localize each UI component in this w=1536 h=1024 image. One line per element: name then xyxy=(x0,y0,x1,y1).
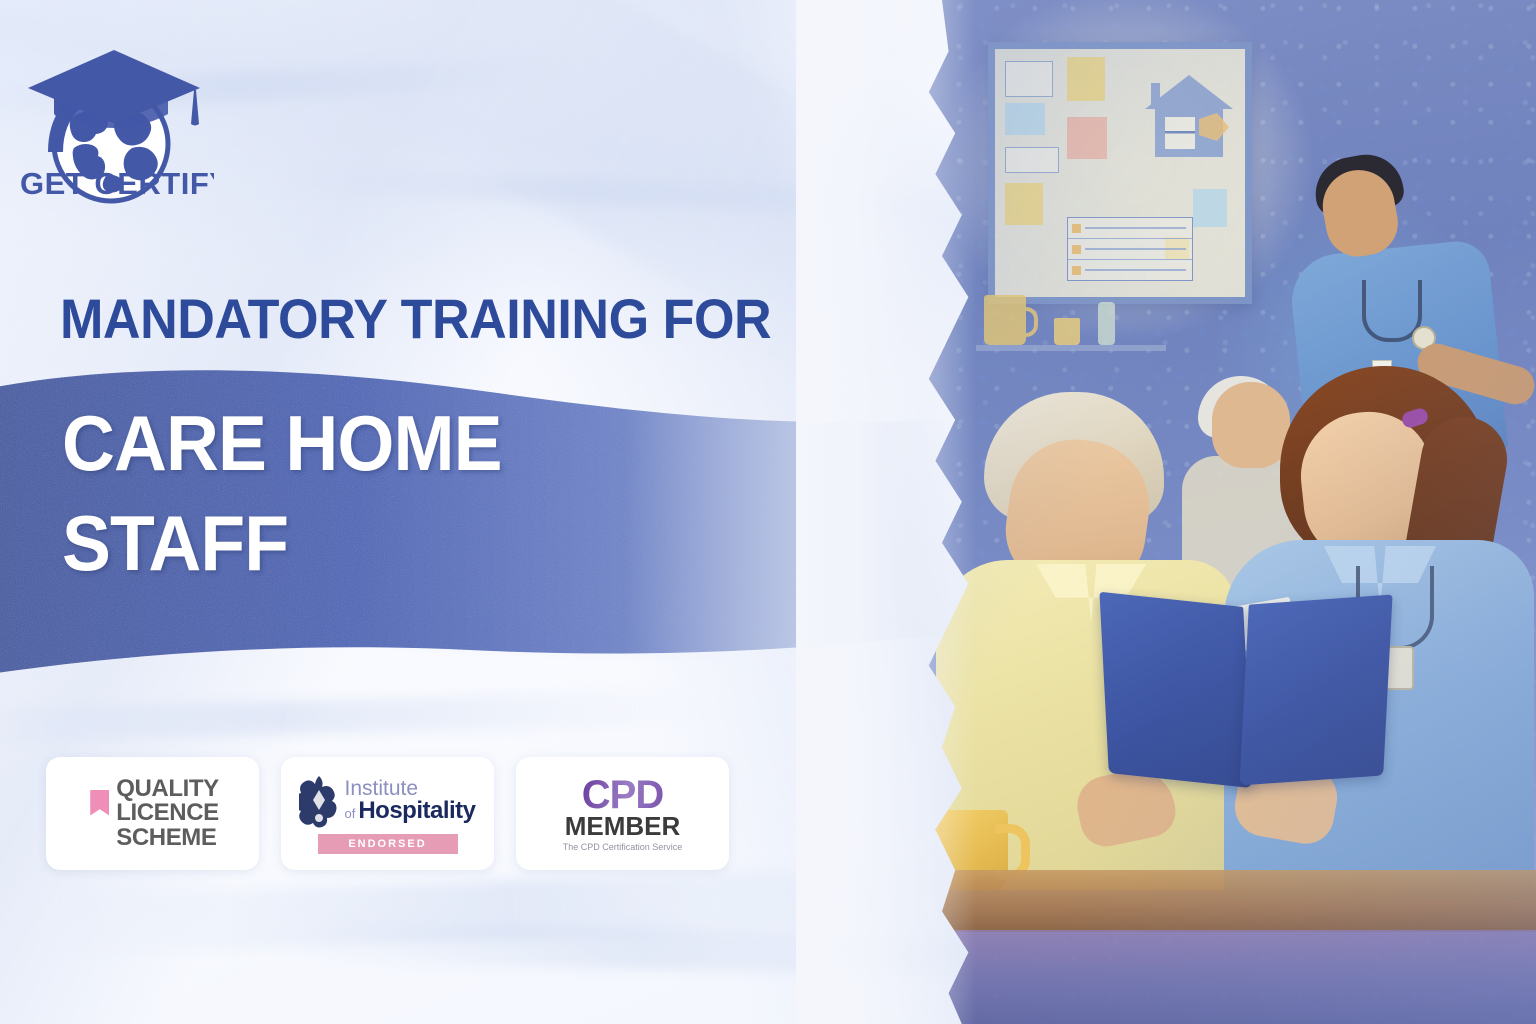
care-home-photo xyxy=(876,0,1536,1024)
board-checklist xyxy=(1067,217,1193,281)
headline-eyebrow: MANDATORY TRAINING FOR xyxy=(60,286,771,351)
brand-logo[interactable]: GET CERTIFY xyxy=(14,26,214,206)
badge-institute-of-hospitality[interactable]: Institute of Hospitality ENDORSED xyxy=(281,757,494,870)
cpd-subtitle: MEMBER xyxy=(565,813,681,839)
sticky-note xyxy=(1067,117,1107,159)
wooden-table-front xyxy=(876,930,1536,1024)
noticeboard xyxy=(988,42,1252,304)
headline-main: CARE HOME STAFF xyxy=(62,394,502,594)
sticky-note xyxy=(1005,183,1043,225)
board-checklist-row xyxy=(1068,239,1192,260)
house-graphic-icon xyxy=(1143,71,1235,159)
yellow-cup xyxy=(1054,318,1080,345)
blue-book xyxy=(1104,600,1388,790)
pink-ribbon-bookmark-icon xyxy=(90,790,109,816)
ioh-line2: Hospitality xyxy=(358,799,475,823)
sticky-note xyxy=(1067,57,1105,101)
cpd-caption: The CPD Certification Service xyxy=(563,843,683,852)
board-diagram-note xyxy=(1005,147,1059,173)
board-checklist-row xyxy=(1068,218,1192,239)
paper-crease xyxy=(0,690,700,744)
accreditation-badges: QUALITY LICENCE SCHEME xyxy=(46,757,729,870)
qls-label: QUALITY LICENCE SCHEME xyxy=(116,777,219,850)
badge-quality-licence-scheme[interactable]: QUALITY LICENCE SCHEME xyxy=(46,757,259,870)
wall-shelf xyxy=(976,345,1166,351)
paper-crease xyxy=(393,0,867,326)
poster-canvas: GET CERTIFY MANDATORY TRAINING FOR CARE … xyxy=(0,0,1536,1024)
ioh-endorsed-banner: ENDORSED xyxy=(318,834,458,854)
cpd-title: CPD xyxy=(582,775,663,815)
logo-text: GET CERTIFY xyxy=(20,166,214,201)
board-checklist-row xyxy=(1068,260,1192,280)
sticky-note xyxy=(1005,103,1045,135)
badge-cpd-member[interactable]: CPD MEMBER The CPD Certification Service xyxy=(516,757,729,870)
sticky-note xyxy=(1193,189,1227,227)
bottle xyxy=(1098,302,1115,345)
ioh-line1: Institute xyxy=(344,778,475,799)
ioh-of: of xyxy=(344,807,355,820)
yellow-jug xyxy=(984,295,1026,345)
wooden-table-top xyxy=(876,870,1536,932)
board-chart-note xyxy=(1005,61,1053,97)
heraldic-crest-icon xyxy=(299,774,339,828)
